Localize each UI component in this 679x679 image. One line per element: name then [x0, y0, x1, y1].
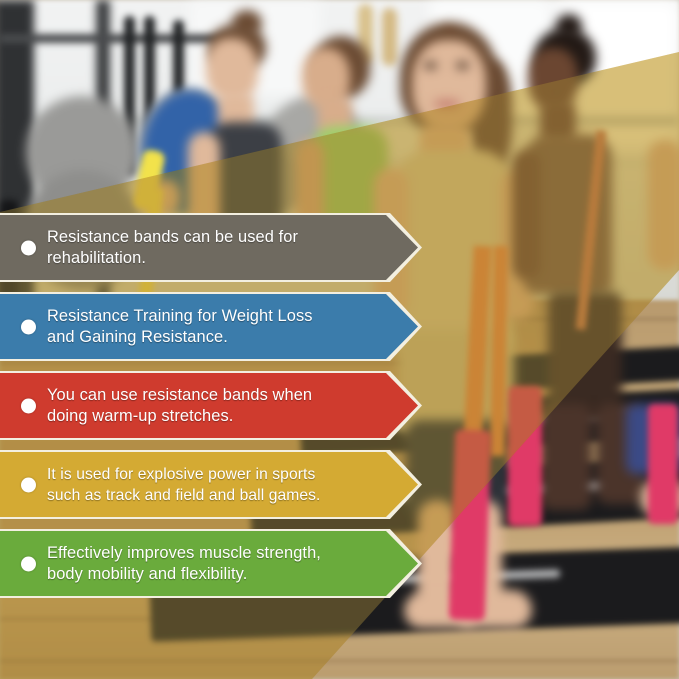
- feature-banner-list: Resistance bands can be used for rehabil…: [0, 0, 679, 679]
- banner-text: Resistance bands can be used for rehabil…: [47, 227, 378, 269]
- banner-text: Resistance Training for Weight Loss and …: [47, 306, 378, 348]
- feature-banner-explosive-power[interactable]: It is used for explosive power in sports…: [0, 450, 422, 519]
- banner-text: You can use resistance bands when doing …: [47, 385, 378, 427]
- product-feature-image: Resistance bands can be used for rehabil…: [0, 0, 679, 679]
- feature-banner-warm-up[interactable]: You can use resistance bands when doing …: [0, 371, 422, 440]
- banner-text: It is used for explosive power in sports…: [47, 464, 378, 506]
- banner-text: Effectively improves muscle strength, bo…: [47, 543, 378, 585]
- bullet-dot-icon: [21, 398, 36, 413]
- bullet-dot-icon: [21, 240, 36, 255]
- feature-banner-muscle-strength[interactable]: Effectively improves muscle strength, bo…: [0, 529, 422, 598]
- feature-banner-weight-loss[interactable]: Resistance Training for Weight Loss and …: [0, 292, 422, 361]
- feature-banner-rehabilitation[interactable]: Resistance bands can be used for rehabil…: [0, 213, 422, 282]
- bullet-dot-icon: [21, 319, 36, 334]
- bullet-dot-icon: [21, 477, 36, 492]
- bullet-dot-icon: [21, 556, 36, 571]
